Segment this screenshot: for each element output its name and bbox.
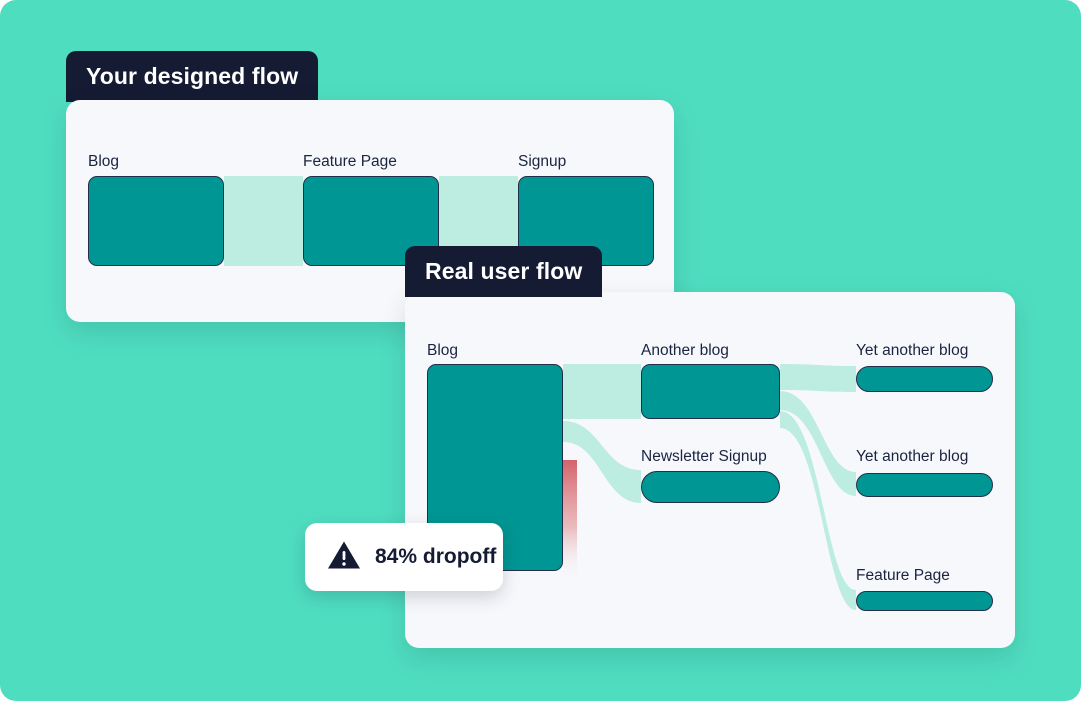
dropoff-badge-label: 84% dropoff xyxy=(375,545,496,569)
node-label-blog-designed: Blog xyxy=(88,153,119,171)
warning-triangle-icon xyxy=(327,540,361,575)
node-label-feature-page-designed: Feature Page xyxy=(303,153,397,171)
flow-node-feature-page-real[interactable] xyxy=(856,591,993,611)
node-label-feature-page-real: Feature Page xyxy=(856,567,950,585)
real-flow-tab-label: Real user flow xyxy=(425,258,582,285)
flow-link-another-blog-to-yet-another-blog-2 xyxy=(780,391,856,496)
flow-link-blog-to-feature-page xyxy=(224,176,303,266)
designed-flow-tab-label: Your designed flow xyxy=(86,63,298,90)
flow-link-blog-to-another-blog xyxy=(563,364,641,419)
flow-node-yet-another-blog-2[interactable] xyxy=(856,473,993,497)
flow-node-yet-another-blog-1[interactable] xyxy=(856,366,993,392)
flow-node-blog-designed[interactable] xyxy=(88,176,224,266)
designed-flow-tab[interactable]: Your designed flow xyxy=(66,51,318,102)
node-label-signup-designed: Signup xyxy=(518,153,566,171)
node-label-blog-real: Blog xyxy=(427,342,458,360)
node-label-newsletter-signup: Newsletter Signup xyxy=(641,448,767,466)
dropoff-badge[interactable]: 84% dropoff xyxy=(305,523,503,591)
flow-link-blog-dropoff xyxy=(563,460,577,582)
node-label-yet-another-blog-1: Yet another blog xyxy=(856,342,968,360)
flow-node-another-blog[interactable] xyxy=(641,364,780,419)
flow-link-another-blog-to-yet-another-blog-1 xyxy=(780,364,856,392)
flow-node-newsletter-signup[interactable] xyxy=(641,471,780,503)
node-label-another-blog: Another blog xyxy=(641,342,729,360)
flow-comparison-graphic: Your designed flow Blog Feature Page Sig… xyxy=(0,0,1081,701)
real-flow-tab[interactable]: Real user flow xyxy=(405,246,602,297)
node-label-yet-another-blog-2: Yet another blog xyxy=(856,448,968,466)
